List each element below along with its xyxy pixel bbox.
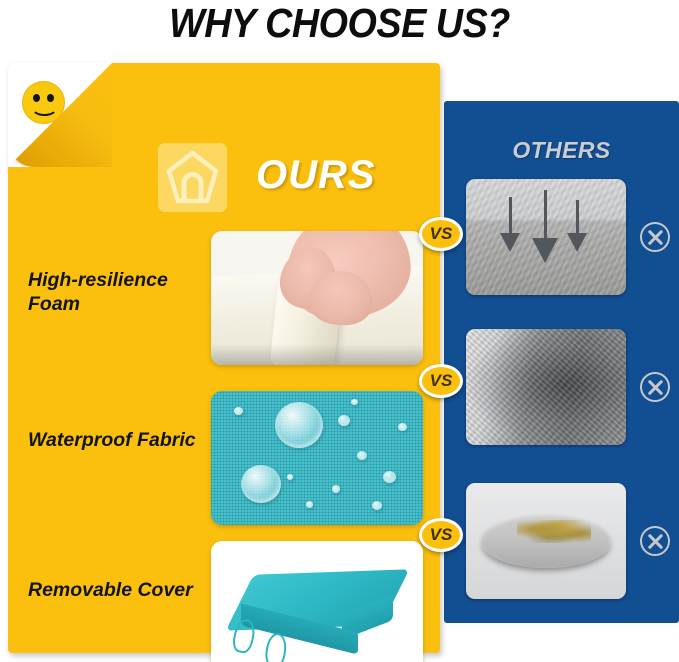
circle-x-icon bbox=[640, 222, 670, 252]
curl-fold-shape bbox=[8, 63, 112, 167]
feature-label-high-resilience-foam: High-resilience Foam bbox=[28, 268, 208, 316]
ours-heading: OURS bbox=[256, 153, 376, 198]
page-curl-corner bbox=[8, 63, 112, 167]
feature-label-removable-cover: Removable Cover bbox=[28, 578, 208, 602]
ours-panel: OURS High-resilience Foam Waterproof Fab… bbox=[8, 63, 440, 653]
wet-stained-fabric-texture bbox=[466, 329, 626, 445]
waterproof-fabric-image bbox=[211, 391, 423, 525]
others-photo-foam-compression bbox=[466, 179, 626, 295]
ours-photo-high-resilience-foam bbox=[211, 231, 423, 365]
house-pentagon-logo-icon bbox=[158, 143, 227, 212]
vs-badge-row-2: VS bbox=[419, 364, 463, 398]
why-choose-us-comparison-poster: WHY CHOOSE US? OTHERS bbox=[0, 0, 679, 662]
down-arrow-icon bbox=[532, 190, 558, 263]
others-photo-stained-cushion bbox=[466, 483, 626, 599]
page-title: WHY CHOOSE US? bbox=[27, 0, 652, 46]
vs-badge-row-1: VS bbox=[419, 217, 463, 251]
vs-badge-row-3: VS bbox=[419, 518, 463, 552]
hand-pinching-foam-image bbox=[211, 231, 423, 365]
circle-x-icon bbox=[640, 526, 670, 556]
ours-photo-waterproof-fabric bbox=[211, 391, 423, 525]
teal-seat-cushion-image bbox=[211, 541, 423, 662]
down-arrow-icon bbox=[500, 197, 520, 252]
stained-round-cushion bbox=[466, 483, 626, 599]
others-photo-wet-fabric bbox=[466, 329, 626, 445]
others-panel: OTHERS bbox=[444, 101, 679, 623]
down-arrow-icon bbox=[567, 200, 587, 252]
circle-x-icon bbox=[640, 372, 670, 402]
ours-photo-removable-cover bbox=[211, 541, 423, 662]
feature-label-waterproof-fabric: Waterproof Fabric bbox=[28, 428, 208, 452]
others-heading: OTHERS bbox=[444, 137, 679, 164]
